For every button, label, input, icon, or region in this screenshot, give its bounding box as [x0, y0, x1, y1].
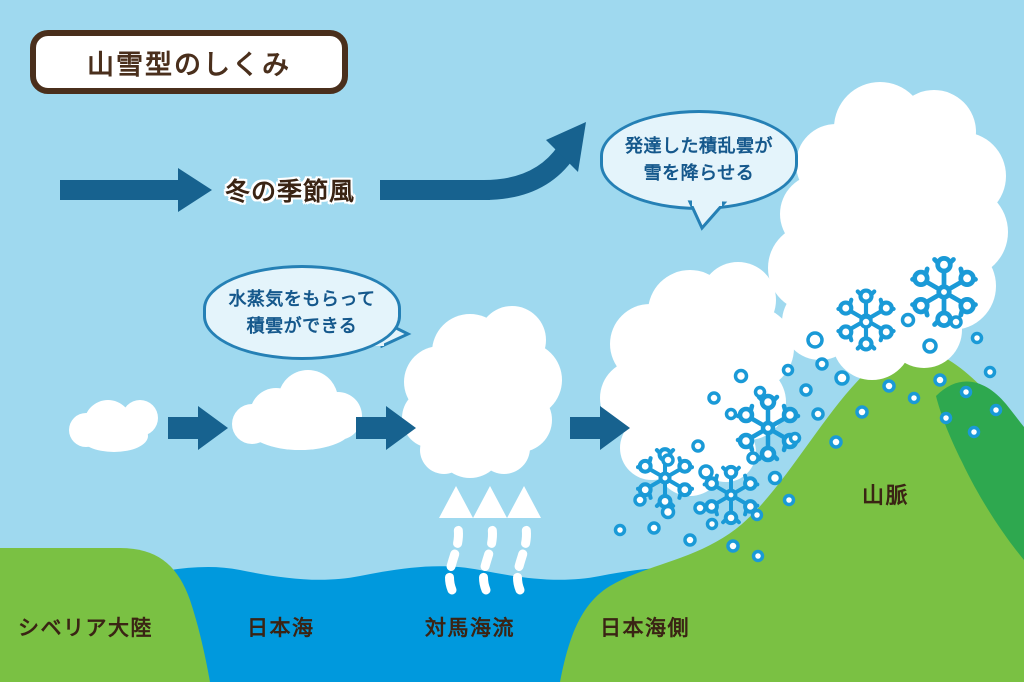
speech-bubble-cumulus: 水蒸気をもらって 積雲ができる [203, 265, 401, 360]
label-tsushima-current: 対馬海流 [425, 612, 515, 642]
diagram-canvas: 山雪型のしくみ 冬の季節風 発達した積乱雲が 雪を降らせる 水蒸気をもらって 積… [0, 0, 1024, 682]
label-sea-of-japan: 日本海 [247, 612, 315, 642]
label-mountain-range: 山脈 [862, 478, 909, 510]
bubble-tail-layer [0, 0, 1024, 682]
bubble-cumulus-line-2: 積雲ができる [247, 313, 358, 340]
speech-bubble-cumulonimbus-tail-patch [692, 200, 722, 206]
label-japan-sea-side: 日本海側 [600, 612, 690, 642]
bubble-cumulus-line-1: 水蒸気をもらって [228, 286, 375, 313]
label-siberia: シベリア大陸 [18, 612, 153, 642]
